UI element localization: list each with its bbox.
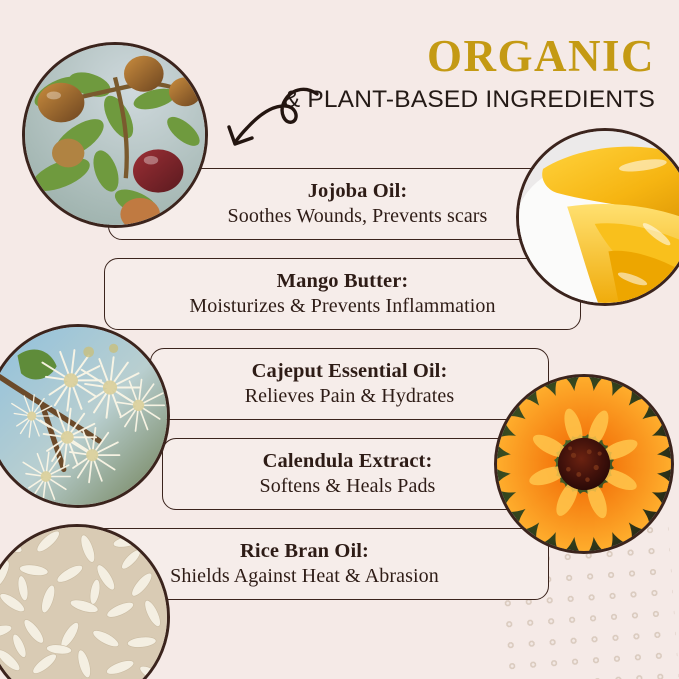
ingredient-description: Softens & Heals Pads — [260, 475, 436, 498]
ingredient-description: Moisturizes & Prevents Inflammation — [189, 295, 495, 318]
header-block: ORGANIC & PLANT-BASED INGREDIENTS — [284, 34, 655, 113]
ingredient-title: Calendula Extract: — [263, 450, 433, 473]
ingredient-title: Jojoba Oil: — [308, 180, 408, 203]
ingredient-row-mango-butter: Mango Butter: Moisturizes & Prevents Inf… — [104, 258, 581, 330]
cajeput-blossom-photo — [0, 324, 170, 508]
page-subtitle: & PLANT-BASED INGREDIENTS — [284, 88, 655, 113]
ingredient-title: Cajeput Essential Oil: — [252, 360, 448, 383]
jojoba-berries-photo — [22, 42, 208, 228]
ingredient-description: Relieves Pain & Hydrates — [245, 385, 455, 408]
infographic-canvas: ORGANIC & PLANT-BASED INGREDIENTS Jojoba… — [0, 0, 679, 679]
ingredient-row-cajeput-essential-oil: Cajeput Essential Oil: Relieves Pain & H… — [150, 348, 549, 420]
ingredient-row-calendula-extract: Calendula Extract: Softens & Heals Pads — [162, 438, 533, 510]
ingredient-description: Soothes Wounds, Prevents scars — [228, 205, 488, 228]
curly-arrow-icon — [216, 80, 328, 172]
ingredient-title: Rice Bran Oil: — [240, 540, 369, 563]
ingredient-title: Mango Butter: — [277, 270, 409, 293]
ingredient-description: Shields Against Heat & Abrasion — [170, 565, 439, 588]
page-title: ORGANIC — [284, 34, 655, 79]
calendula-flower-photo — [494, 374, 674, 554]
